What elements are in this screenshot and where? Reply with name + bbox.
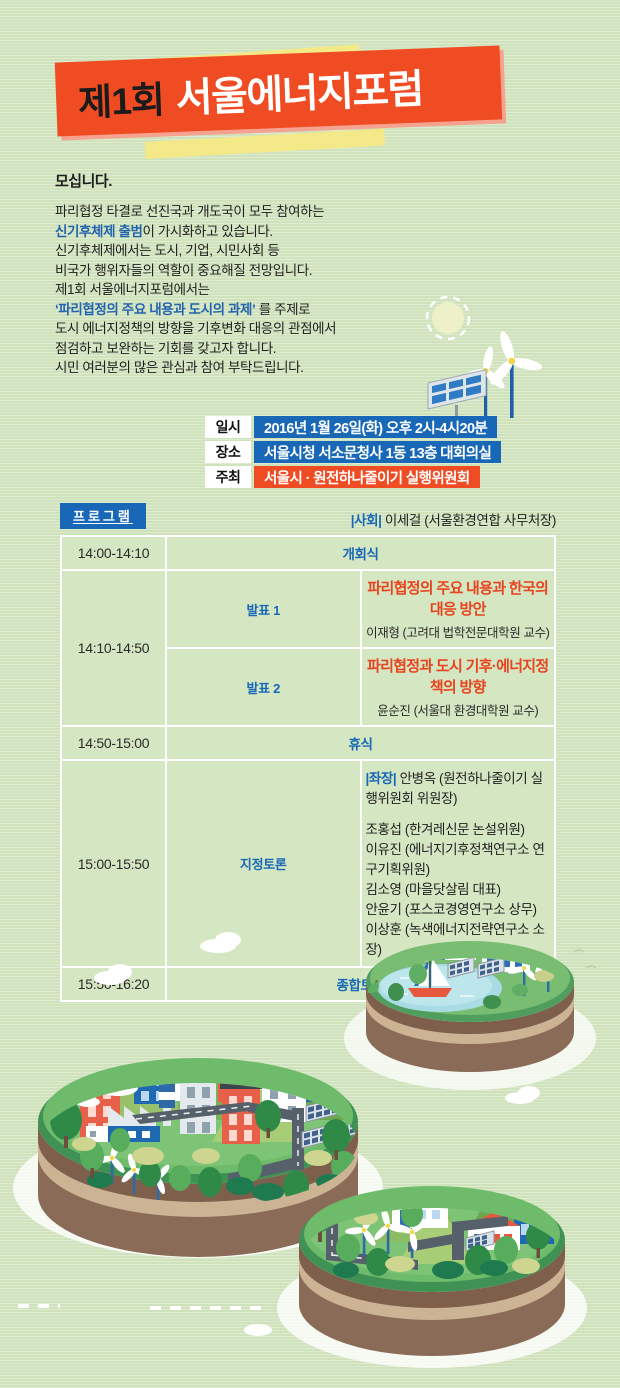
info-label: 주최	[205, 466, 251, 488]
session-tag: 발표 1	[166, 570, 361, 648]
schedule-note: 휴식	[166, 726, 555, 760]
eco-city-illustration-svg	[0, 930, 620, 1388]
intro-highlight: ‘파리협정의 주요 내용과 도시의 과제’	[55, 302, 255, 317]
intro-highlight: 신기후체제 출범	[55, 224, 143, 239]
intro-line: 시민 여러분의 많은 관심과 참여 부탁드립니다.	[55, 358, 455, 378]
info-row: 일시2016년 1월 26일(화) 오후 2시-4시20분	[205, 416, 605, 438]
intro-line: 신기후체제 출범이 가시화하고 있습니다.	[55, 222, 455, 242]
moderator-marker: |사회|	[351, 513, 382, 528]
schedule-time: 14:00-14:10	[61, 536, 166, 570]
energy-decoration-group	[400, 285, 620, 425]
table-row: 14:50-15:00휴식	[61, 726, 555, 760]
info-value: 서울시 · 원전하나줄이기 실행위원회	[254, 466, 480, 488]
list-item: 김소영 (마을닷살림 대표)	[366, 880, 551, 900]
intro-heading: 모십니다.	[55, 170, 455, 191]
intro-line: 제1회 서울에너지포럼에서는	[55, 280, 455, 300]
event-info-bars: 일시2016년 1월 26일(화) 오후 2시-4시20분장소서울시청 서소문청…	[205, 416, 605, 491]
solar-panel-icon	[428, 370, 486, 419]
info-row: 장소서울시청 서소문청사 1동 13층 대회의실	[205, 441, 605, 463]
island-upper-right	[344, 930, 596, 1090]
session-cell: 파리협정의 주요 내용과 한국의 대응 방안이재형 (고려대 법학전문대학원 교…	[361, 570, 556, 648]
poster-root: 제1회 서울에너지포럼 모십니다. 파리협정 타결로 선진국과 개도국이 모두 …	[0, 0, 620, 1388]
table-row: 14:00-14:10개회식	[61, 536, 555, 570]
intro-block: 모십니다. 파리협정 타결로 선진국과 개도국이 모두 참여하는신기후체제 출범…	[55, 170, 455, 378]
info-row: 주최서울시 · 원전하나줄이기 실행위원회	[205, 466, 605, 488]
info-label: 일시	[205, 416, 251, 438]
session-title: 파리협정의 주요 내용과 한국의 대응 방안	[366, 577, 551, 619]
table-row: 14:10-14:50발표 1파리협정의 주요 내용과 한국의 대응 방안이재형…	[61, 570, 555, 648]
session-title: 파리협정과 도시 기후·에너지정책의 방향	[366, 655, 551, 697]
chair-marker: |좌장|	[366, 771, 397, 786]
schedule-note: 개회식	[166, 536, 555, 570]
schedule-time: 14:10-14:50	[61, 570, 166, 726]
title-banner-area: 제1회 서울에너지포럼	[0, 24, 620, 154]
intro-body: 파리협정 타결로 선진국과 개도국이 모두 참여하는신기후체제 출범이 가시화하…	[55, 202, 455, 378]
info-value: 서울시청 서소문청사 1동 13층 대회의실	[254, 441, 501, 463]
session-tag: 발표 2	[166, 648, 361, 726]
info-value: 2016년 1월 26일(화) 오후 2시-4시20분	[254, 416, 497, 438]
intro-line: 신기후체제에서는 도시, 기업, 시민사회 등	[55, 241, 455, 261]
program-moderator: |사회| 이세걸 (서울환경연합 사무처장)	[351, 509, 556, 529]
intro-line: 비국가 행위자들의 역할이 중요해질 전망입니다.	[55, 261, 455, 281]
schedule-time: 14:50-15:00	[61, 726, 166, 760]
wind-turbine-icon-front	[487, 330, 543, 418]
panel-chair: |좌장| 안병옥 (원전하나줄이기 실행위원회 위원장)	[366, 767, 551, 807]
intro-line: 점검하고 보완하는 기회를 갖고자 합니다.	[55, 339, 455, 359]
session-cell: 파리협정과 도시 기후·에너지정책의 방향윤순진 (서울대 환경대학원 교수)	[361, 648, 556, 726]
list-item: 조홍섭 (한겨레신문 논설위원)	[366, 820, 551, 840]
list-item: 안윤기 (포스코경영연구소 상무)	[366, 900, 551, 920]
dashed-path	[18, 1306, 270, 1308]
list-item: 이유진 (에너지기후정책연구소 연구기획위원)	[366, 840, 551, 880]
intro-line: 도시 에너지정책의 방향을 기후변화 대응의 관점에서	[55, 319, 455, 339]
title-banner-inner: 제1회 서울에너지포럼	[55, 56, 424, 128]
sun-icon	[427, 297, 469, 339]
title-ordinal: 제1회	[77, 69, 165, 126]
moderator-name: 이세걸 (서울환경연합 사무처장)	[381, 513, 556, 528]
intro-line: 파리협정 타결로 선진국과 개도국이 모두 참여하는	[55, 202, 455, 222]
intro-line: ‘파리협정의 주요 내용과 도시의 과제’ 를 주제로	[55, 300, 455, 320]
energy-decoration-svg	[400, 285, 620, 425]
session-speaker: 윤순진 (서울대 환경대학원 교수)	[366, 700, 551, 719]
program-header: 프로그램 |사회| 이세걸 (서울환경연합 사무처장)	[60, 503, 556, 535]
program-badge: 프로그램	[60, 503, 146, 529]
eco-city-illustration	[0, 930, 620, 1388]
info-label: 장소	[205, 441, 251, 463]
page-title: 서울에너지포럼	[175, 56, 424, 123]
session-speaker: 이재형 (고려대 법학전문대학원 교수)	[366, 622, 551, 641]
program-section: 프로그램 |사회| 이세걸 (서울환경연합 사무처장) 14:00-14:10개…	[60, 503, 556, 1002]
